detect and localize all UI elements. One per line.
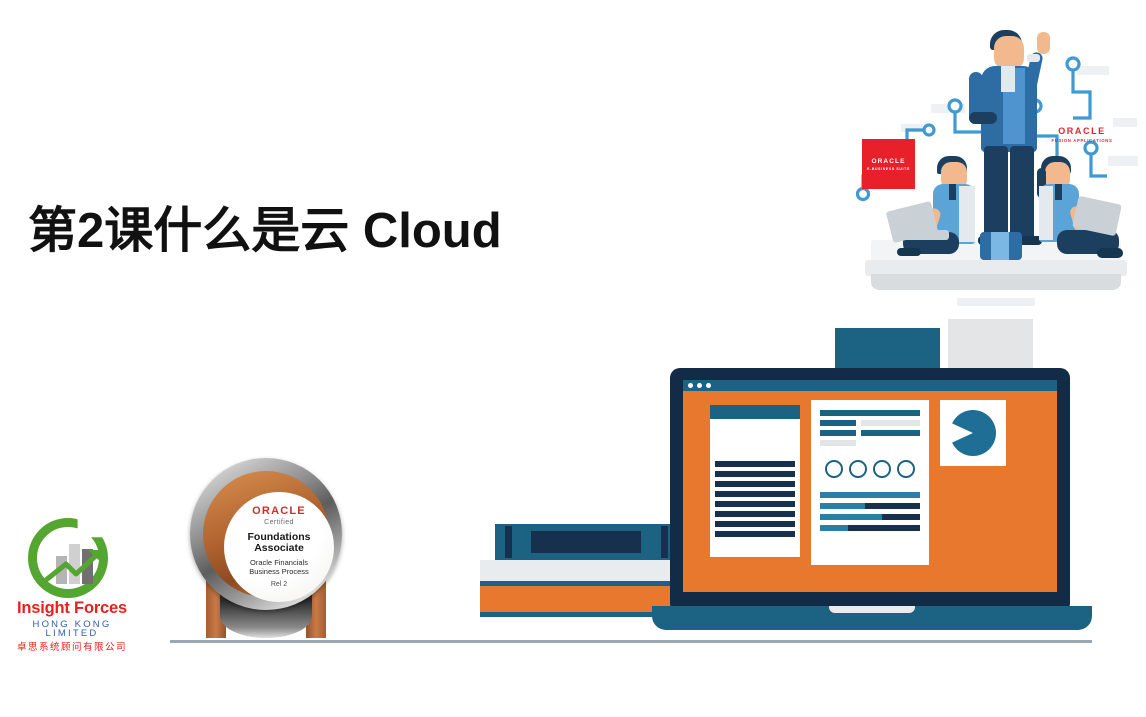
document-text-line	[715, 461, 795, 467]
progress-bar	[820, 492, 920, 498]
form-input-bar	[861, 430, 920, 436]
pie-chart-icon	[950, 410, 996, 456]
document-text-line	[715, 471, 795, 477]
form-field-row	[820, 440, 920, 446]
badge-certified-label: Certified	[264, 519, 294, 526]
document-panel-header	[710, 405, 800, 419]
form-field-row	[820, 430, 920, 436]
dashboard-pie-chart-panel	[940, 400, 1006, 466]
form-progress-bars	[820, 492, 920, 531]
oracle-certification-badge: ORACLE Certified Foundations Associate O…	[190, 458, 342, 642]
form-label-bar	[820, 440, 856, 446]
oracle-fusion-applications-label: ORACLE FUSION APPLICATIONS	[1037, 126, 1127, 143]
badge-title-line2: Associate	[254, 543, 304, 554]
laptop-trackpad-notch	[829, 606, 915, 613]
laptop-dashboard-illustration	[480, 310, 1095, 645]
platform-layer-bottom	[871, 274, 1121, 290]
pie-slice-cutout	[949, 422, 973, 444]
oracle-ebs-suite-badge: ORACLE E-BUSINESS SUITE	[862, 139, 915, 189]
dashboard-form-panel	[811, 400, 929, 565]
form-label-bar	[820, 430, 856, 436]
company-logo: Insight Forces HONG KONG LIMITED 卓思系统顾问有…	[6, 518, 138, 650]
oracle-team-illustration: ORACLE E-BUSINESS SUITE ORACLE FUSION AP…	[845, 8, 1145, 318]
platform-shadow	[957, 298, 1035, 306]
insight-forces-logo-mark	[28, 518, 112, 598]
book-top	[495, 524, 695, 560]
document-text-line	[715, 521, 795, 527]
progress-bar	[820, 514, 920, 520]
document-text-line	[715, 511, 795, 517]
window-dot-maximize-icon	[706, 383, 711, 388]
window-dot-close-icon	[688, 383, 693, 388]
progress-bar	[820, 525, 920, 531]
book-clip-left	[505, 526, 512, 558]
logo-growth-arrow-icon	[44, 548, 112, 584]
laptop-screen	[683, 380, 1057, 592]
form-input-bar	[861, 420, 920, 426]
oracle-brand-text: ORACLE	[871, 158, 905, 165]
laptop-base	[652, 606, 1092, 630]
oracle-brand-text: ORACLE	[1037, 126, 1127, 136]
oracle-ebs-product-text: E-BUSINESS SUITE	[867, 167, 910, 171]
document-text-line	[715, 481, 795, 487]
book-cover-inner	[531, 531, 641, 553]
blue-box-prop-light	[991, 232, 1009, 260]
document-text-line	[715, 491, 795, 497]
status-circle-icon	[849, 460, 867, 478]
form-heading-bar	[820, 410, 920, 416]
company-name-chinese: 卓思系统顾问有限公司	[6, 643, 138, 653]
form-field-row	[820, 420, 920, 426]
badge-outer-ring: ORACLE Certified Foundations Associate O…	[190, 458, 342, 610]
company-region: HONG KONG LIMITED	[6, 620, 138, 639]
progress-bar	[820, 503, 920, 509]
company-logo-text: Insight Forces HONG KONG LIMITED 卓思系统顾问有…	[6, 600, 138, 652]
page-title: 第2课什么是云 Cloud	[28, 205, 502, 259]
laptop-frame	[670, 368, 1070, 608]
form-label-bar	[820, 420, 856, 426]
badge-oracle-brand: ORACLE	[252, 506, 306, 517]
book-clip-right	[661, 526, 668, 558]
backdrop-rect-gray	[948, 319, 1033, 371]
badge-subject-line1: Oracle Financials	[250, 558, 308, 567]
status-circle-icon	[873, 460, 891, 478]
badge-face: ORACLE Certified Foundations Associate O…	[224, 492, 334, 602]
slide-canvas: 第2课什么是云 Cloud	[0, 0, 1146, 717]
window-dot-minimize-icon	[697, 383, 702, 388]
document-text-lines	[715, 461, 795, 537]
company-name: Insight Forces	[6, 600, 138, 617]
window-title-bar	[683, 380, 1057, 391]
book-middle	[480, 560, 702, 582]
document-text-line	[715, 501, 795, 507]
dashboard-document-panel	[710, 405, 800, 557]
backdrop-rect-teal	[835, 328, 940, 370]
badge-subject-line2: Business Process	[249, 567, 309, 576]
form-status-circles	[820, 460, 920, 478]
badge-release-label: Rel 2	[271, 581, 287, 588]
document-text-line	[715, 531, 795, 537]
status-circle-icon	[825, 460, 843, 478]
badge-copper-ring: ORACLE Certified Foundations Associate O…	[203, 471, 329, 597]
status-circle-icon	[897, 460, 915, 478]
oracle-fusion-product-text: FUSION APPLICATIONS	[1037, 138, 1127, 143]
